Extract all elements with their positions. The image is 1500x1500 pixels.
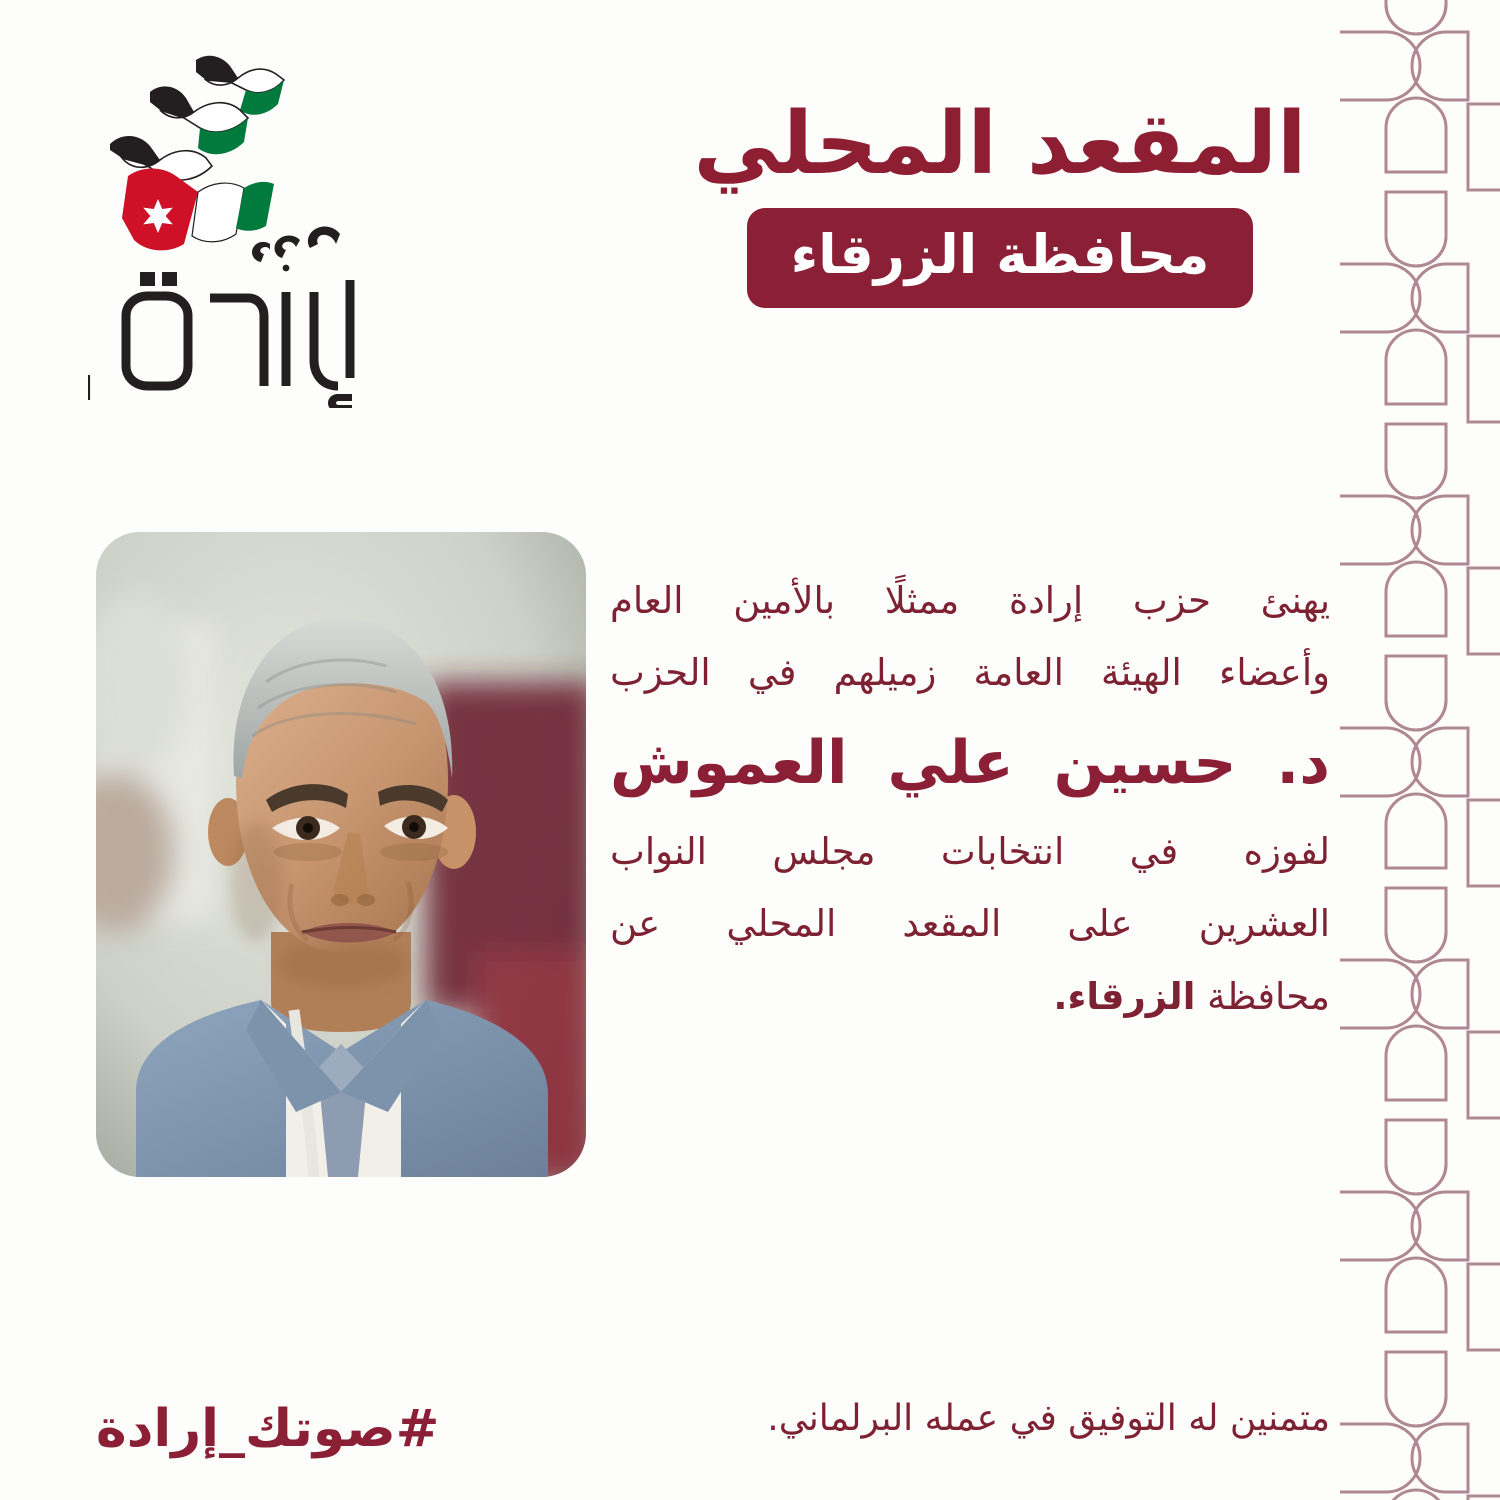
body-line-1: يهنئ حزب إرادة ممثلًا بالأمين العام xyxy=(610,565,1330,637)
congratulation-text: يهنئ حزب إرادة ممثلًا بالأمين العام وأعض… xyxy=(610,565,1330,1033)
logo-word-eradah xyxy=(126,280,350,386)
honoree-name: د. حسين علي العموش xyxy=(610,717,1330,810)
poster-canvas: ERADAH المقعد المحلي محافظة الزرقاء xyxy=(0,0,1500,1500)
closing-wish-text: متمنين له التوفيق في عمله البرلماني. xyxy=(610,1392,1330,1446)
governorate-badge: محافظة الزرقاء xyxy=(747,208,1254,308)
campaign-hashtag: #صوتك_إرادة xyxy=(96,1396,439,1464)
body-line-2: وأعضاء الهيئة العامة زميلهم في الحزب xyxy=(610,637,1330,709)
governorate-name-bold: الزرقاء. xyxy=(1053,975,1195,1018)
honoree-portrait xyxy=(96,532,586,1177)
page-title: المقعد المحلي xyxy=(670,96,1330,192)
jordan-flag-ribbons-icon xyxy=(110,56,284,251)
body-line-5: محافظة الزرقاء. xyxy=(610,961,1330,1033)
pattern-repeat-group xyxy=(1340,0,1500,1500)
body-line-4: العشرين على المقعد المحلي عن xyxy=(610,888,1330,960)
final-line-prefix: محافظة xyxy=(1195,975,1330,1018)
logo-latin-name: ERADAH xyxy=(88,367,100,408)
logo-word-hizb xyxy=(252,227,340,272)
body-line-3: لفوزه في انتخابات مجلس النواب xyxy=(610,816,1330,888)
party-logo: ERADAH xyxy=(88,48,388,408)
decorative-pattern-strip xyxy=(1340,0,1500,1500)
header-block: المقعد المحلي محافظة الزرقاء xyxy=(670,96,1330,308)
